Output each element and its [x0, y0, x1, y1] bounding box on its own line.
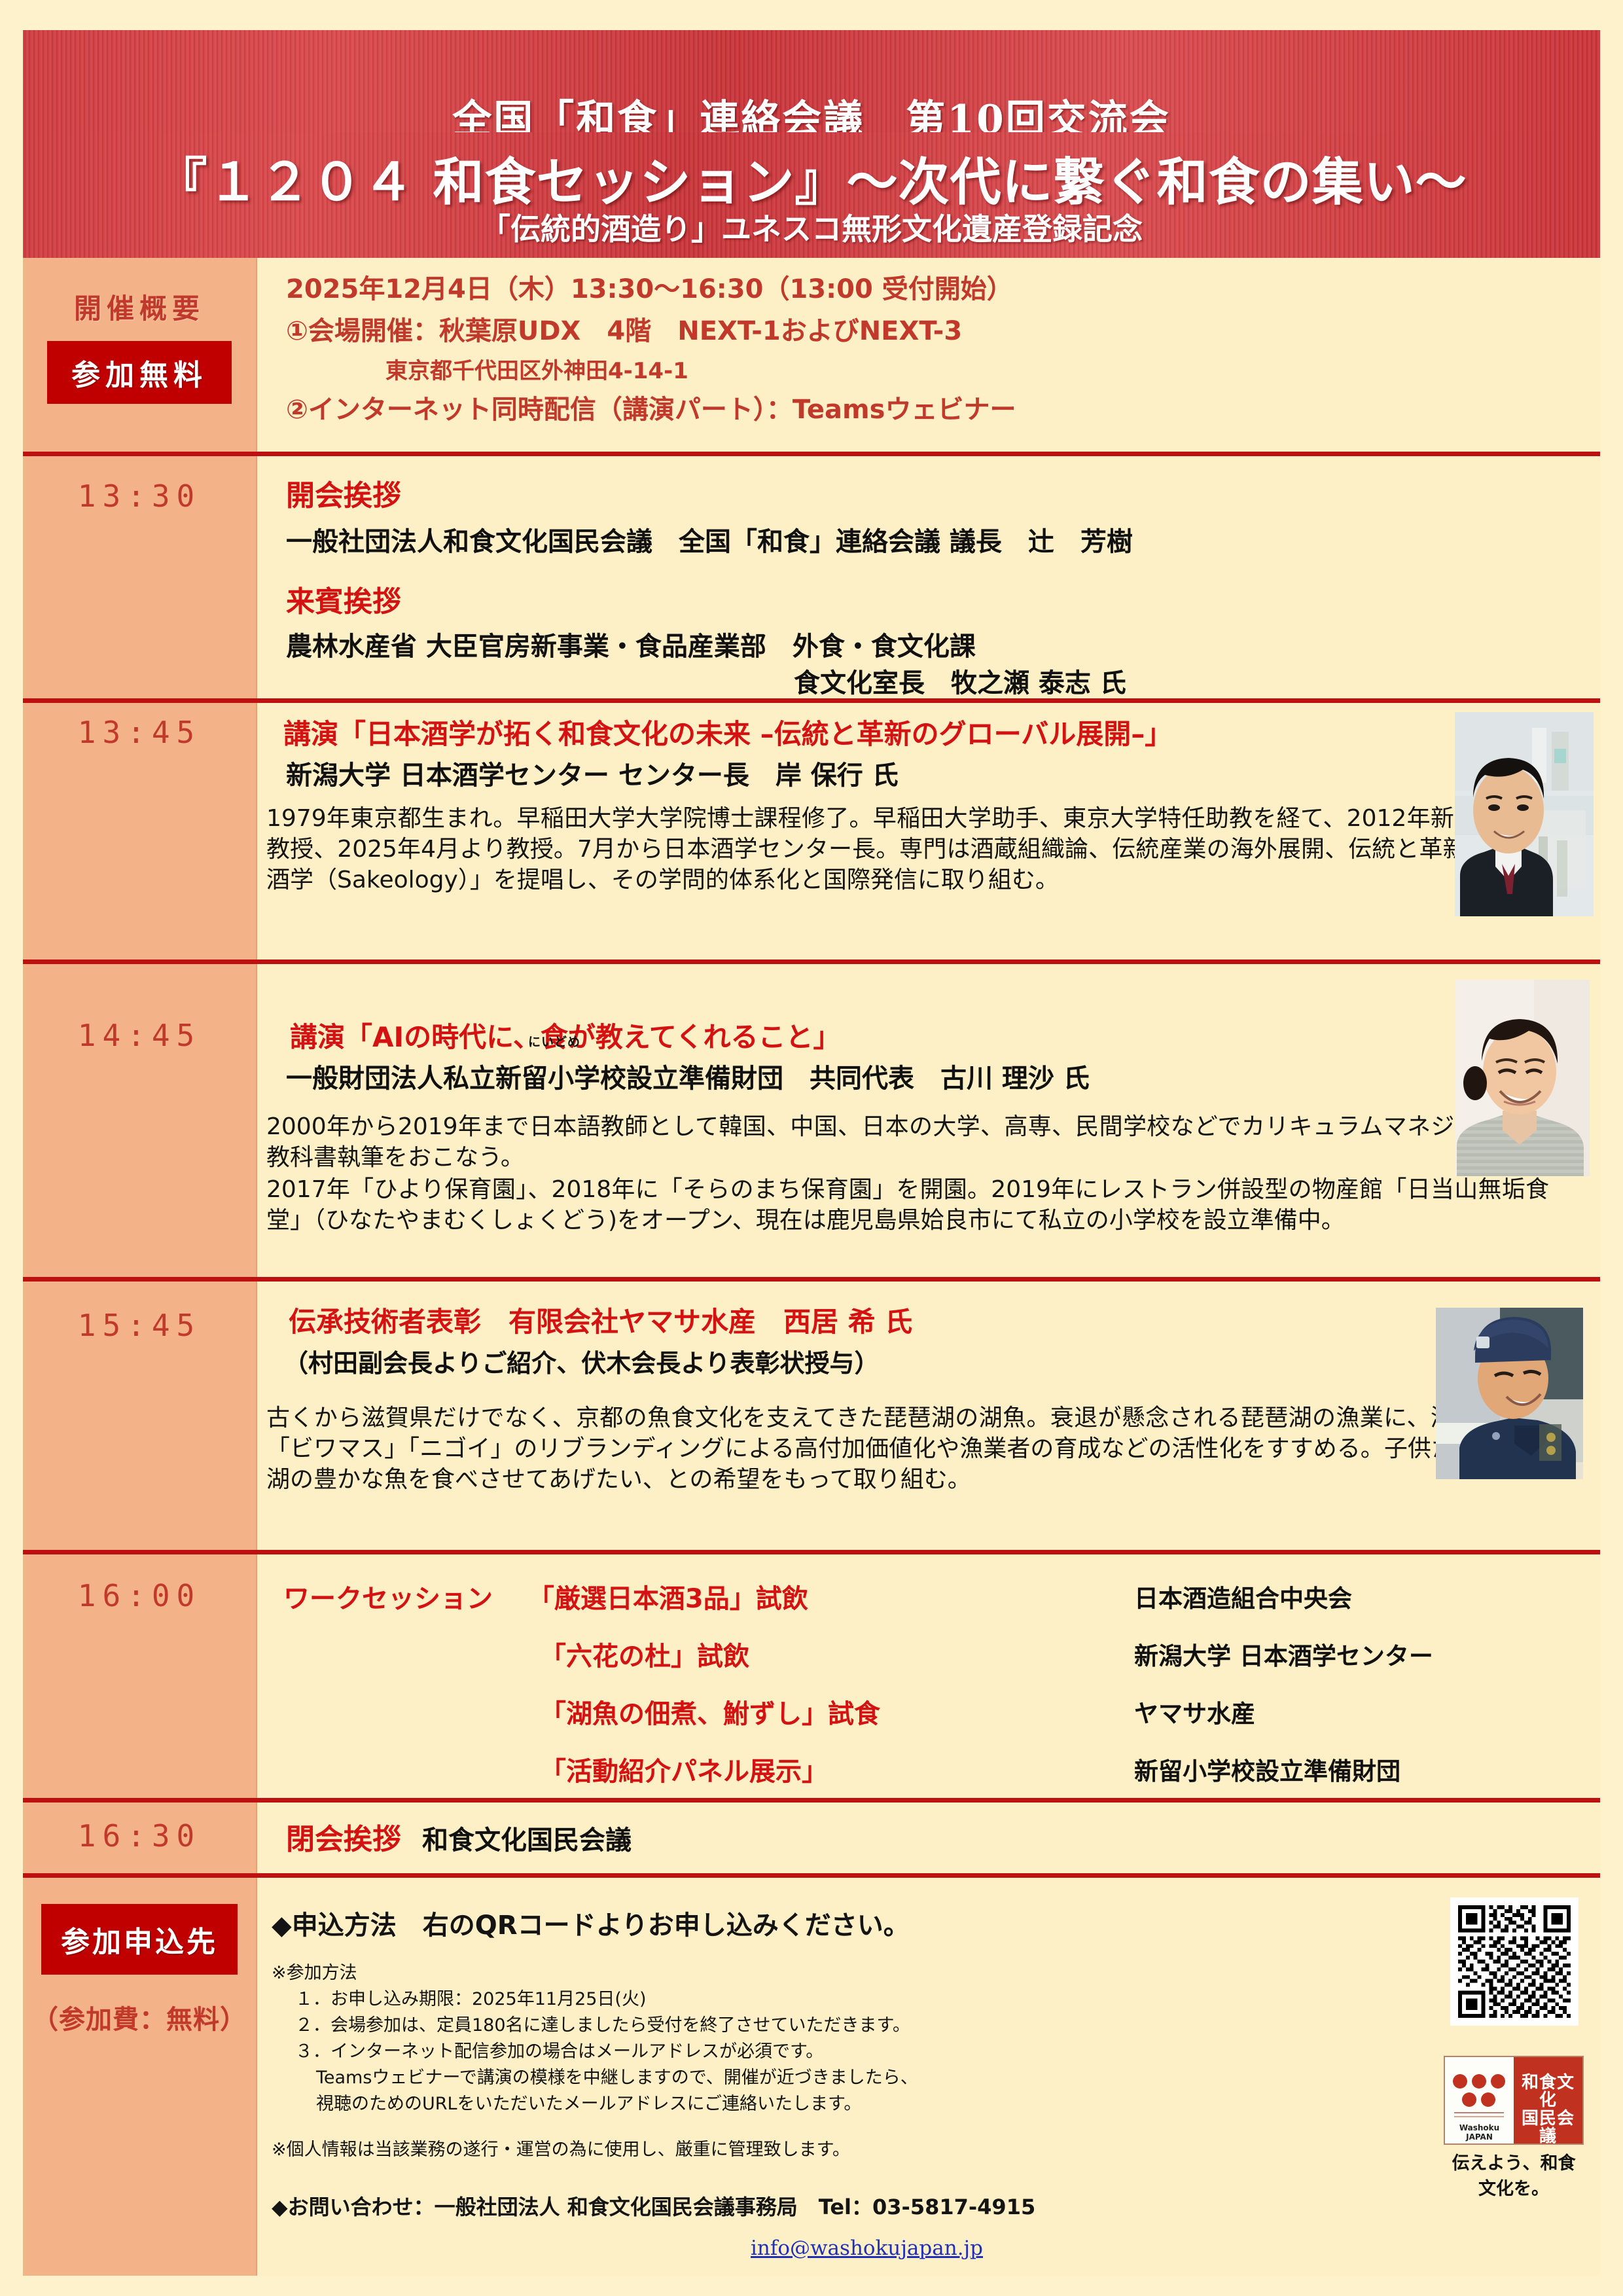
header-line3: 「伝統的酒造り」ユネスコ無形文化遺産登録記念: [23, 206, 1600, 249]
lecture-bio-1445-part1: 2000年から2019年まで日本語教師として韓国、中国、日本の大学、高専、民間学…: [266, 1112, 1549, 1174]
content-cell-1545: 伝承技術者表彰 有限会社ヤマサ水産 西居 希 氏 （村田副会長よりご紹介、伏木会…: [257, 1282, 1600, 1550]
guest-remarks-person: 食文化室長 牧之瀬 泰志 氏: [794, 662, 1126, 700]
work-session-activity: 「六花の杜」試飲: [540, 1641, 749, 1672]
logo-dot: [1472, 2074, 1486, 2089]
application-right-cell: ◆申込方法 右のQRコードよりお申し込みください。 ※参加方法 １．お申し込み期…: [257, 1878, 1600, 2276]
portrait-illustration-furukawa: [1455, 980, 1590, 1176]
logo-dot: [1453, 2074, 1467, 2089]
logo-dot: [1481, 2092, 1495, 2107]
work-session-row: ワークセッション 「厳選日本酒3品」試飲: [283, 1570, 1134, 1628]
divider-4: [23, 1277, 1600, 1282]
logo-org-name: 和食文化 国民会議: [1514, 2074, 1582, 2145]
time-label: 16:30: [23, 1803, 256, 1854]
content-cell-1630: 閉会挨拶 和食文化国民会議: [257, 1803, 1600, 1873]
time-label: 13:45: [23, 703, 256, 750]
time-cell-1545: 15:45: [23, 1282, 257, 1550]
logo-mark: Washoku JAPAN: [1445, 2057, 1514, 2144]
application-fee: （参加費：無料）: [23, 1998, 256, 2036]
divider-7: [23, 1873, 1600, 1878]
lecture-speaker-1445: 一般財団法人私立新留小学校設立準備財団 共同代表 古川 理沙 氏: [286, 1057, 1090, 1095]
content-cell-1600: ワークセッション 「厳選日本酒3品」試飲 「六花の杜」試飲 「湖魚の佃煮、鮒ずし…: [257, 1554, 1600, 1798]
work-session-organizations: 日本酒造組合中央会 新潟大学 日本酒学センター ヤマサ水産 新留小学校設立準備財…: [1134, 1570, 1600, 1801]
washoku-japan-logo: Washoku JAPAN 和食文化 国民会議: [1444, 2056, 1584, 2145]
content-cell-1330: 開会挨拶 一般社団法人和食文化国民会議 全国「和食」連絡会議 議長 辻 芳樹 来…: [257, 456, 1600, 698]
work-session-org: 日本酒造組合中央会: [1134, 1570, 1600, 1628]
guest-remarks-org: 農林水産省 大臣官房新事業・食品産業部 外食・食文化課: [286, 625, 976, 663]
time-label: 14:45: [23, 964, 256, 1053]
header-line2: 『１２０４ 和食セッション』～次代に繋ぐ和食の集い～: [23, 141, 1600, 215]
lecture-bio-1345: 1979年東京都生まれ。早稲田大学大学院博士課程修了。早稲田大学助手、東京大学特…: [266, 804, 1549, 895]
logo-tagline: 伝えよう、和食文化を。: [1444, 2149, 1584, 2200]
opening-remarks-heading: 開会挨拶: [286, 472, 401, 514]
contact-info: ◆お問い合わせ：一般社団法人 和食文化国民会議事務局 Tel：03-5817-4…: [272, 2191, 1035, 2221]
privacy-note: ※個人情報は当該業務の遂行・運営の為に使用し、厳重に管理致します。: [272, 2138, 850, 2162]
lecture-title-1345: 講演「日本酒学が拓く和食文化の未来 –伝統と革新のグローバル展開–」: [283, 712, 1172, 752]
time-cell-1330: 13:30: [23, 456, 257, 698]
time-label: 15:45: [23, 1282, 256, 1343]
work-session-row: 「六花の杜」試飲: [283, 1628, 1134, 1685]
program-row-1545: 15:45 伝承技術者表彰 有限会社ヤマサ水産 西居 希 氏 （村田副会長よりご…: [23, 1282, 1600, 1550]
free-entry-badge: 参加無料: [47, 341, 232, 404]
speaker-portrait-kishi: [1455, 712, 1594, 916]
header-line1: 全国「和食」連絡会議 第10回交流会: [23, 88, 1600, 132]
award-bio-1545: 古くから滋賀県だけでなく、京都の魚食文化を支えてきた琵琶湖の湖魚。衰退が懸念され…: [266, 1403, 1549, 1495]
program-row-1330: 13:30 開会挨拶 一般社団法人和食文化国民会議 全国「和食」連絡会議 議長 …: [23, 456, 1600, 698]
program-row-1345: 13:45 講演「日本酒学が拓く和食文化の未来 –伝統と革新のグローバル展開–」…: [23, 703, 1600, 960]
note-capacity: ２．会場参加は、定員180名に達しましたら受付を終了させていただきます。: [295, 2014, 910, 2037]
application-row: 参加申込先 （参加費：無料） ◆申込方法 右のQRコードよりお申し込みください。…: [23, 1878, 1600, 2276]
logo-washoku-japan-text: Washoku JAPAN: [1445, 2123, 1514, 2142]
award-title-1545: 伝承技術者表彰 有限会社ヤマサ水産 西居 希 氏: [289, 1300, 912, 1340]
work-session-activity: 「厳選日本酒3品」試飲: [528, 1584, 808, 1614]
closing-remarks-heading: 閉会挨拶: [286, 1823, 401, 1856]
application-qr-code[interactable]: [1450, 1897, 1578, 2026]
lecture-bio-1445-part2: 2017年「ひより保育園」、2018年に「そらのまち保育園」を開園。2019年に…: [266, 1175, 1549, 1236]
work-session-row: 「湖魚の佃煮、鮒ずし」試食: [283, 1685, 1134, 1743]
note-deadline: １．お申し込み期限：2025年11月25日(火): [295, 1988, 647, 2011]
contact-email-link[interactable]: info@washokujapan.jp: [751, 2236, 983, 2260]
note-webinar-2: 視聴のためのURLをいただいたメールアドレスにご連絡いたします。: [316, 2092, 861, 2116]
divider-5: [23, 1550, 1600, 1554]
overview-row: 開催概要 参加無料 2025年12月4日（木）13:30～16:30（13:00…: [23, 258, 1600, 452]
work-session-row: 「活動紹介パネル展示」: [283, 1743, 1134, 1801]
program-grid: 開催概要 参加無料 2025年12月4日（木）13:30～16:30（13:00…: [23, 258, 1600, 2276]
ruby-niidome: にいどめ: [528, 1032, 580, 1050]
program-row-1445: 14:45 講演「AIの時代に、食が教えてくれること」 にいどめ 一般財団法人私…: [23, 964, 1600, 1277]
closing-remarks-body: 和食文化国民会議: [422, 1825, 632, 1856]
flyer-page: 全国「和食」連絡会議 第10回交流会 『１２０４ 和食セッション』～次代に繋ぐ和…: [0, 0, 1623, 2296]
time-cell-1630: 16:30: [23, 1803, 257, 1873]
overview-left-cell: 開催概要 参加無料: [23, 258, 257, 452]
application-left-cell: 参加申込先 （参加費：無料）: [23, 1878, 257, 2276]
divider-1: [23, 452, 1600, 456]
application-method: ◆申込方法 右のQRコードよりお申し込みください。: [272, 1904, 910, 1942]
time-label: 13:30: [23, 456, 256, 514]
work-session-org: ヤマサ水産: [1134, 1685, 1600, 1743]
application-badge: 参加申込先: [41, 1904, 238, 1975]
time-cell-1445: 14:45: [23, 964, 257, 1277]
work-session-activities: ワークセッション 「厳選日本酒3品」試飲 「六花の杜」試飲 「湖魚の佃煮、鮒ずし…: [257, 1570, 1134, 1801]
note-webinar-1: Teamsウェビナーで講演の模様を中継しますので、開催が近づきましたら、: [316, 2066, 918, 2090]
qr-code-icon: [1458, 1905, 1571, 2018]
overview-address: 東京都千代田区外神田4-14-1: [385, 360, 688, 382]
program-row-1600: 16:00 ワークセッション 「厳選日本酒3品」試飲 「六花の杜」試飲: [23, 1554, 1600, 1798]
note-email-required: ３．インターネット配信参加の場合はメールアドレスが必須です。: [295, 2040, 823, 2064]
logo-underline: [1454, 2112, 1504, 2113]
portrait-illustration-kishi: [1455, 712, 1594, 916]
header-banner-top: 全国「和食」連絡会議 第10回交流会: [23, 30, 1600, 132]
time-cell-1345: 13:45: [23, 703, 257, 960]
logo-dot: [1491, 2074, 1505, 2089]
work-session-label: ワークセッション: [283, 1584, 493, 1614]
divider-3: [23, 960, 1600, 964]
logo-name-panel: 和食文化 国民会議: [1514, 2057, 1582, 2144]
guest-remarks-heading: 来賓挨拶: [286, 578, 401, 620]
overview-datetime: 2025年12月4日（木）13:30～16:30（13:00 受付開始）: [286, 276, 1013, 302]
header-banner-bottom: 『１２０４ 和食セッション』～次代に繋ぐ和食の集い～ 「伝統的酒造り」ユネスコ無…: [23, 132, 1600, 258]
award-subtitle-1545: （村田副会長よりご紹介、伏木会長より表彰状授与）: [283, 1343, 879, 1379]
overview-venue: ①会場開催：秋葉原UDX 4階 NEXT-1およびNEXT-3: [286, 318, 962, 344]
opening-remarks-body: 一般社団法人和食文化国民会議 全国「和食」連絡会議 議長 辻 芳樹: [286, 520, 1133, 558]
speaker-portrait-nishii: [1436, 1308, 1583, 1479]
program-row-1630: 16:30 閉会挨拶 和食文化国民会議: [23, 1803, 1600, 1873]
notes-heading: ※参加方法: [272, 1962, 357, 1985]
work-session-activity: 「活動紹介パネル展示」: [540, 1757, 828, 1787]
portrait-illustration-nishii: [1436, 1308, 1583, 1479]
overview-label: 開催概要: [23, 258, 256, 327]
content-cell-1345: 講演「日本酒学が拓く和食文化の未来 –伝統と革新のグローバル展開–」 新潟大学 …: [257, 703, 1600, 960]
logo-dot: [1462, 2092, 1476, 2107]
time-cell-1600: 16:00: [23, 1554, 257, 1798]
overview-right-cell: 2025年12月4日（木）13:30～16:30（13:00 受付開始） ①会場…: [257, 258, 1600, 452]
lecture-speaker-1345: 新潟大学 日本酒学センター センター長 岸 保行 氏: [286, 754, 899, 792]
work-session-activity: 「湖魚の佃煮、鮒ずし」試食: [540, 1699, 880, 1729]
work-session-org: 新潟大学 日本酒学センター: [1134, 1628, 1600, 1685]
overview-streaming: ②インターネット同時配信（講演パート）：Teamsウェビナー: [286, 397, 1016, 423]
logo-underline: [1454, 2116, 1504, 2117]
work-session-org: 新留小学校設立準備財団: [1134, 1743, 1600, 1801]
logo-org-line1: 和食文化: [1514, 2074, 1582, 2110]
content-cell-1445: 講演「AIの時代に、食が教えてくれること」 にいどめ 一般財団法人私立新留小学校…: [257, 964, 1600, 1277]
logo-org-line2: 国民会議: [1514, 2110, 1582, 2146]
time-label: 16:00: [23, 1554, 256, 1613]
speaker-portrait-furukawa: [1455, 980, 1590, 1176]
